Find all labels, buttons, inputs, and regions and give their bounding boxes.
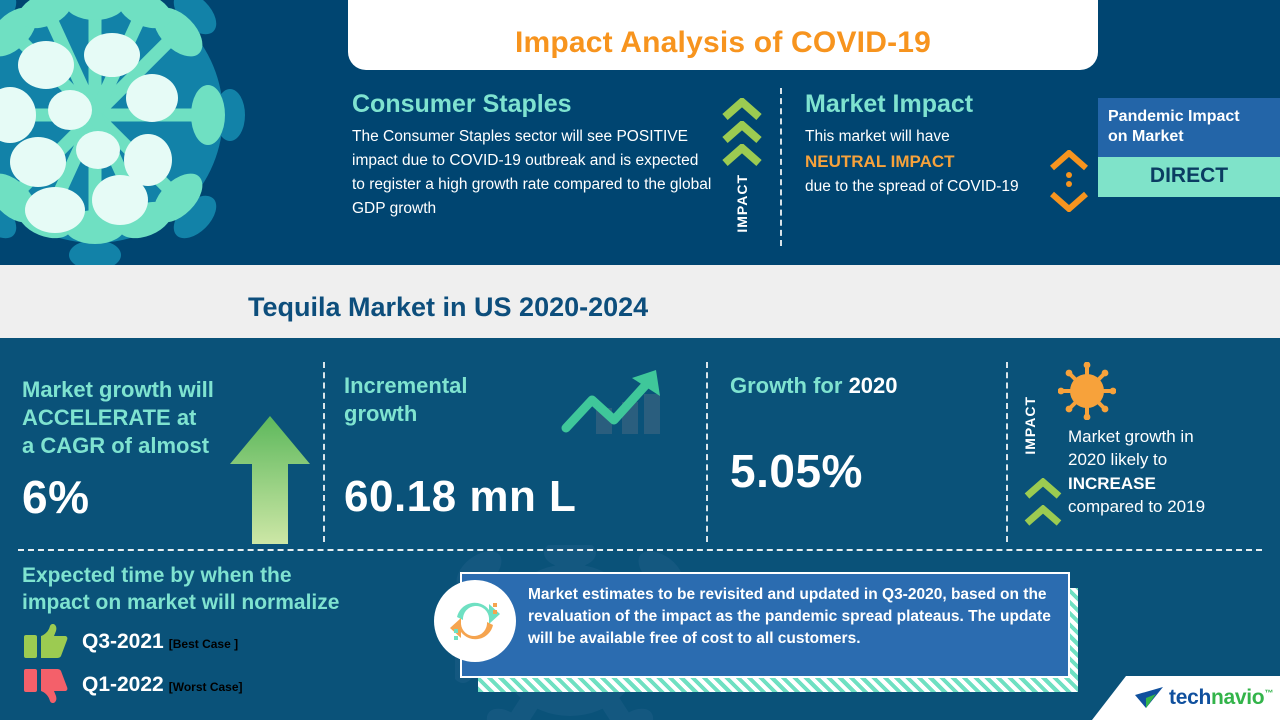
header-divider bbox=[780, 88, 782, 246]
impact-label-right: IMPACT bbox=[1022, 396, 1038, 455]
pandemic-impact-badge: Pandemic Impact on Market DIRECT bbox=[1098, 98, 1280, 197]
impact-panel-line3: compared to 2019 bbox=[1068, 495, 1276, 518]
metric-growth-2020: Growth for 2020 5.05% bbox=[730, 372, 1010, 498]
market-impact-heading: Market Impact bbox=[805, 90, 1055, 119]
normalize-heading-line2: impact on market will normalize bbox=[22, 589, 422, 616]
impact-rail-header: IMPACT bbox=[718, 98, 766, 248]
infographic-canvas: Impact Analysis of COVID-19 Consumer Sta… bbox=[0, 0, 1280, 720]
normalize-section: Expected time by when the impact on mark… bbox=[22, 562, 422, 703]
impact-panel-highlight: INCREASE bbox=[1068, 472, 1276, 495]
double-chevron-up-icon-right bbox=[1024, 478, 1062, 526]
impact-label: IMPACT bbox=[734, 174, 750, 233]
best-case-row: Q3-2021[Best Case ] bbox=[22, 624, 422, 660]
metrics-divider-3 bbox=[1006, 362, 1008, 542]
impact-panel-text: Market growth in 2020 likely to INCREASE… bbox=[1068, 425, 1276, 519]
market-impact-highlight: NEUTRAL IMPACT bbox=[805, 152, 955, 171]
up-arrow-icon bbox=[228, 412, 312, 544]
consumer-staples-body: The Consumer Staples sector will see POS… bbox=[352, 125, 712, 221]
metric-incremental-value: 60.18 mn L bbox=[344, 472, 674, 522]
metric-cagr-label-1: Market growth will bbox=[22, 376, 302, 404]
coronavirus-icon bbox=[0, 0, 250, 300]
best-case-value: Q3-2021 bbox=[82, 630, 164, 653]
refresh-icon-circle bbox=[434, 580, 516, 662]
logo-trademark: ™ bbox=[1264, 688, 1273, 698]
section-consumer-staples: Consumer Staples The Consumer Staples se… bbox=[352, 90, 712, 221]
note-box: Market estimates to be revisited and upd… bbox=[460, 572, 1070, 678]
market-impact-body-pre: This market will have bbox=[805, 128, 950, 145]
section-market-impact: Market Impact This market will have NEUT… bbox=[805, 90, 1055, 199]
metrics-divider-1 bbox=[323, 362, 325, 542]
market-title: Tequila Market in US 2020-2024 bbox=[248, 292, 648, 323]
worst-case-row: Q1-2022[Worst Case] bbox=[22, 667, 422, 703]
consumer-staples-heading: Consumer Staples bbox=[352, 90, 712, 119]
badge-heading: Pandemic Impact on Market bbox=[1098, 98, 1280, 157]
metric-growth-year: 2020 bbox=[849, 373, 898, 398]
impact-panel-line2: 2020 likely to bbox=[1068, 448, 1276, 471]
badge-heading-line1: Pandemic Impact bbox=[1108, 107, 1272, 127]
metric-growth-label-1: Growth for bbox=[730, 373, 842, 398]
impact-panel-line1: Market growth in bbox=[1068, 425, 1276, 448]
orange-coronavirus-icon bbox=[1058, 362, 1116, 420]
refresh-cycle-icon bbox=[447, 593, 503, 649]
thumbs-down-icon bbox=[22, 667, 68, 703]
market-impact-body-post: due to the spread of COVID-19 bbox=[805, 178, 1019, 195]
growth-chart-arrow-icon bbox=[560, 366, 665, 436]
metrics-divider-2 bbox=[706, 362, 708, 542]
neutral-up-down-icon bbox=[1046, 150, 1092, 212]
badge-heading-line2: on Market bbox=[1108, 127, 1272, 147]
impact-rail-right: IMPACT bbox=[1022, 396, 1054, 455]
best-case-tag: [Best Case ] bbox=[169, 637, 238, 651]
bottom-divider bbox=[18, 549, 1262, 551]
worst-case-tag: [Worst Case] bbox=[169, 680, 243, 694]
normalize-heading-line1: Expected time by when the bbox=[22, 562, 422, 589]
double-chevron-up-icon bbox=[722, 98, 762, 166]
page-title-card: Impact Analysis of COVID-19 bbox=[348, 0, 1098, 70]
thumbs-up-icon bbox=[22, 624, 68, 660]
worst-case-value: Q1-2022 bbox=[82, 673, 164, 696]
metric-growth-value: 5.05% bbox=[730, 444, 1010, 498]
page-title: Impact Analysis of COVID-19 bbox=[515, 26, 931, 70]
technavio-arrow-icon bbox=[1134, 686, 1164, 710]
logo-text-tech: tech bbox=[1169, 686, 1211, 709]
logo-text-navio: navio bbox=[1211, 686, 1264, 709]
badge-value: DIRECT bbox=[1098, 157, 1280, 197]
